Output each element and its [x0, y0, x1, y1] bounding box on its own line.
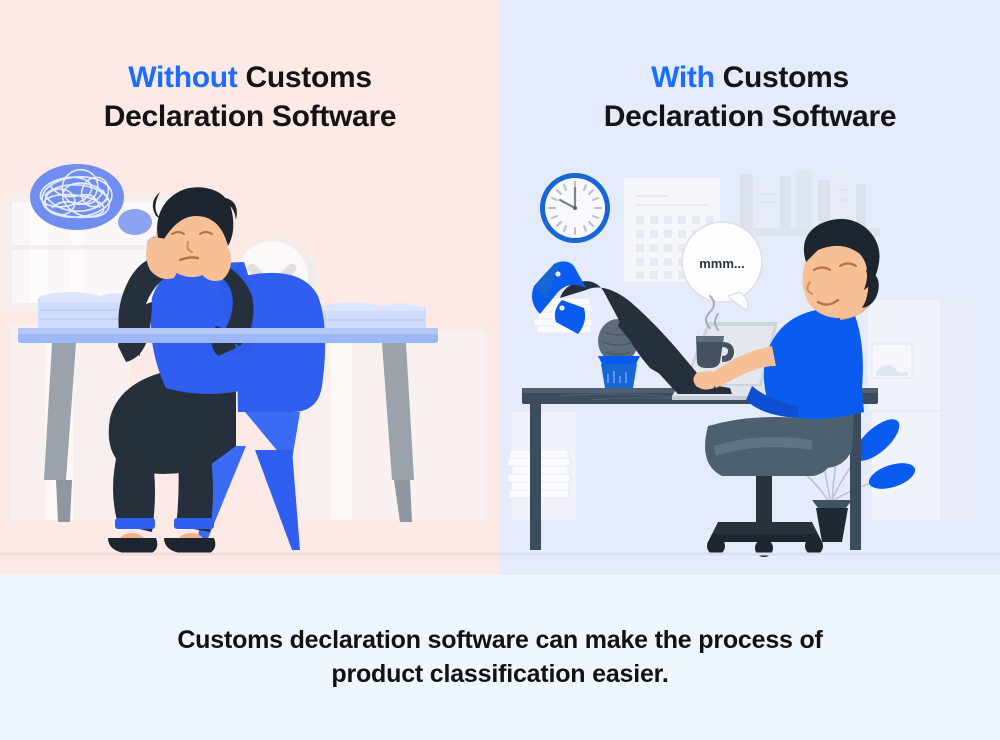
panel-left-title-line2: Declaration Software — [104, 100, 396, 133]
panel-with-software: With Customs Declaration Software — [500, 0, 1000, 575]
panel-row: Without Customs Declaration Software — [0, 0, 1000, 575]
caption-text: Customs declaration software can make th… — [100, 624, 900, 692]
caption-band: Customs declaration software can make th… — [0, 575, 1000, 740]
panel-left-title-rest: Customs — [237, 61, 371, 94]
panel-right-title: With Customs Declaration Software — [500, 58, 1000, 136]
scene-stressed-worker — [0, 150, 500, 570]
caption-line-2: product classification easier. — [331, 660, 668, 688]
scene-relaxed-worker: mmm... — [500, 150, 1000, 570]
panel-left-title: Without Customs Declaration Software — [0, 58, 500, 136]
panel-right-title-accent: With — [651, 61, 715, 94]
panel-right-title-rest: Customs — [715, 61, 849, 94]
wall-clock-icon — [540, 173, 610, 243]
caption-line-1: Customs declaration software can make th… — [177, 626, 822, 654]
panel-without-software: Without Customs Declaration Software — [0, 0, 500, 575]
person-head-relaxed — [802, 219, 879, 318]
comparison-infographic: Without Customs Declaration Software — [0, 0, 1000, 740]
panel-left-title-accent: Without — [128, 61, 237, 94]
speech-bubble: mmm... — [682, 222, 762, 310]
panel-right-title-line2: Declaration Software — [604, 100, 896, 133]
speech-bubble-text: mmm... — [699, 256, 745, 271]
paper-stack-right — [318, 303, 426, 331]
